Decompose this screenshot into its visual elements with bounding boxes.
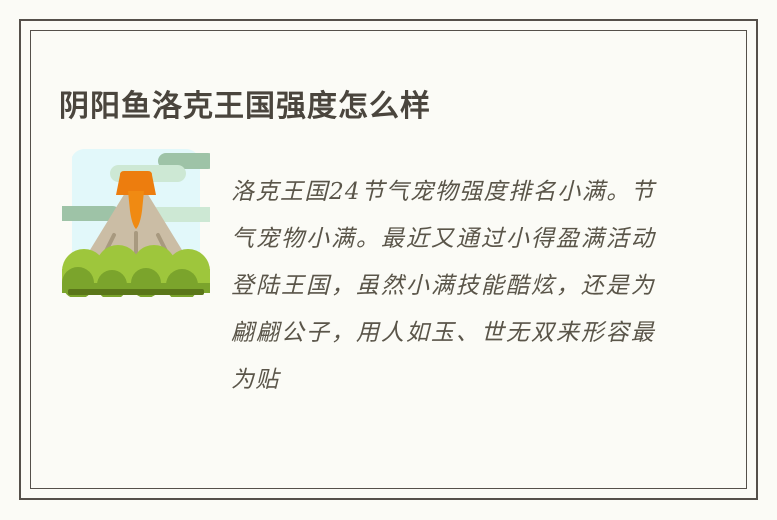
volcano-illustration-svg xyxy=(62,149,210,297)
article-card: 阴阳鱼洛克王国强度怎么样 xyxy=(19,19,758,500)
ground-strip xyxy=(68,289,204,295)
page-title: 阴阳鱼洛克王国强度怎么样 xyxy=(59,87,431,127)
article-body-text: 洛克王国24节气宠物强度排名小满。节气宠物小满。最近又通过小得盈满活动登陆王国，… xyxy=(231,169,655,404)
volcano-illustration xyxy=(62,149,210,297)
